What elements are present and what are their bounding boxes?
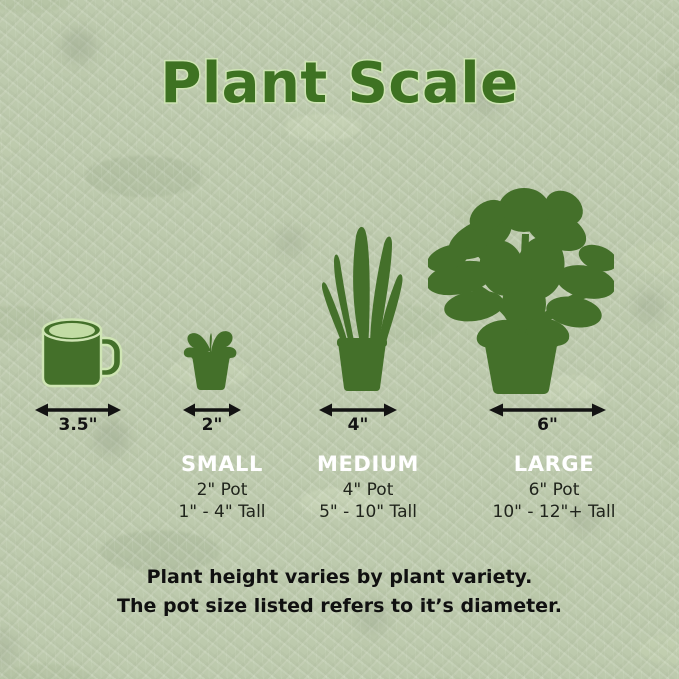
snake-plant-icon (318, 222, 406, 394)
dimension-label-large: 6" (489, 415, 606, 435)
plant-scale-infographic: Plant Scale (0, 0, 679, 679)
size-name-medium: MEDIUM (268, 452, 468, 476)
size-height-large: 10" - 12"+ Tall (456, 501, 652, 523)
footer-line-1: Plant height varies by plant variety. (0, 563, 679, 592)
size-pot-medium: 4" Pot (268, 479, 468, 501)
footer-note: Plant height varies by plant variety. Th… (0, 563, 679, 621)
page-title: Plant Scale (0, 56, 679, 112)
dimension-label-small: 2" (183, 415, 241, 435)
size-column-medium: MEDIUM 4" Pot 5" - 10" Tall (268, 452, 468, 523)
size-name-large: LARGE (456, 452, 652, 476)
size-pot-large: 6" Pot (456, 479, 652, 501)
dimension-label-mug: 3.5" (35, 415, 121, 435)
footer-line-2: The pot size listed refers to it’s diame… (0, 592, 679, 621)
dimension-label-medium: 4" (319, 415, 397, 435)
small-potted-plant-icon (180, 325, 242, 393)
coffee-mug-icon (37, 314, 123, 392)
large-leafy-plant-icon (428, 172, 614, 394)
size-height-medium: 5" - 10" Tall (268, 501, 468, 523)
size-column-large: LARGE 6" Pot 10" - 12"+ Tall (456, 452, 652, 523)
